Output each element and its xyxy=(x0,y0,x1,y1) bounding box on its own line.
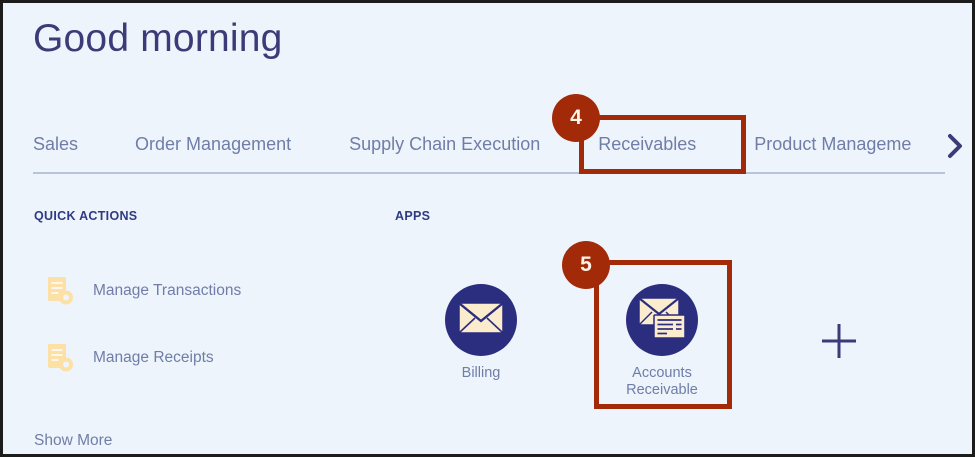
tab-sales[interactable]: Sales xyxy=(33,134,78,155)
tab-receivables[interactable]: Receivables xyxy=(598,134,696,155)
show-more-link[interactable]: Show More xyxy=(34,432,112,450)
app-label-line-1: Accounts xyxy=(632,365,692,381)
quick-action-manage-transactions[interactable]: Manage Transactions xyxy=(34,265,354,317)
envelope-invoice-icon xyxy=(637,296,687,345)
envelope-icon xyxy=(458,301,504,340)
oracle-springboard-screen: Good morning Sales Order Management Supp… xyxy=(0,0,975,457)
tab-list: Sales Order Management Supply Chain Exec… xyxy=(33,115,975,173)
app-label-accounts-receivable: Accounts Receivable xyxy=(601,365,723,399)
app-label-line-2: Receivable xyxy=(626,382,698,398)
app-tile-accounts-receivable[interactable]: Accounts Receivable xyxy=(601,284,723,399)
category-tabstrip: Sales Order Management Supply Chain Exec… xyxy=(3,115,975,175)
app-tile-billing[interactable]: Billing xyxy=(420,284,542,382)
page-title: Good morning xyxy=(33,17,283,61)
annotation-badge-5: 5 xyxy=(562,241,610,289)
tab-supply-chain-execution[interactable]: Supply Chain Execution xyxy=(349,134,540,155)
quick-actions-list: Manage Transactions Manage Receipts xyxy=(34,265,354,399)
quick-action-label: Manage Transactions xyxy=(93,282,241,300)
annotation-badge-4: 4 xyxy=(552,94,600,142)
app-icon-circle xyxy=(626,284,698,356)
chevron-right-icon[interactable] xyxy=(942,131,968,161)
tab-product-management[interactable]: Product Manageme xyxy=(754,134,911,155)
plus-icon[interactable] xyxy=(817,319,861,363)
app-icon-circle xyxy=(445,284,517,356)
app-label-billing: Billing xyxy=(420,365,542,382)
tab-order-management[interactable]: Order Management xyxy=(135,134,291,155)
document-gear-icon xyxy=(43,274,77,308)
document-gear-icon xyxy=(43,341,77,375)
tab-underline-divider xyxy=(33,172,945,174)
quick-action-label: Manage Receipts xyxy=(93,349,214,367)
quick-actions-heading: QUICK ACTIONS xyxy=(34,209,137,223)
quick-action-manage-receipts[interactable]: Manage Receipts xyxy=(34,332,354,384)
apps-heading: APPS xyxy=(395,209,430,223)
